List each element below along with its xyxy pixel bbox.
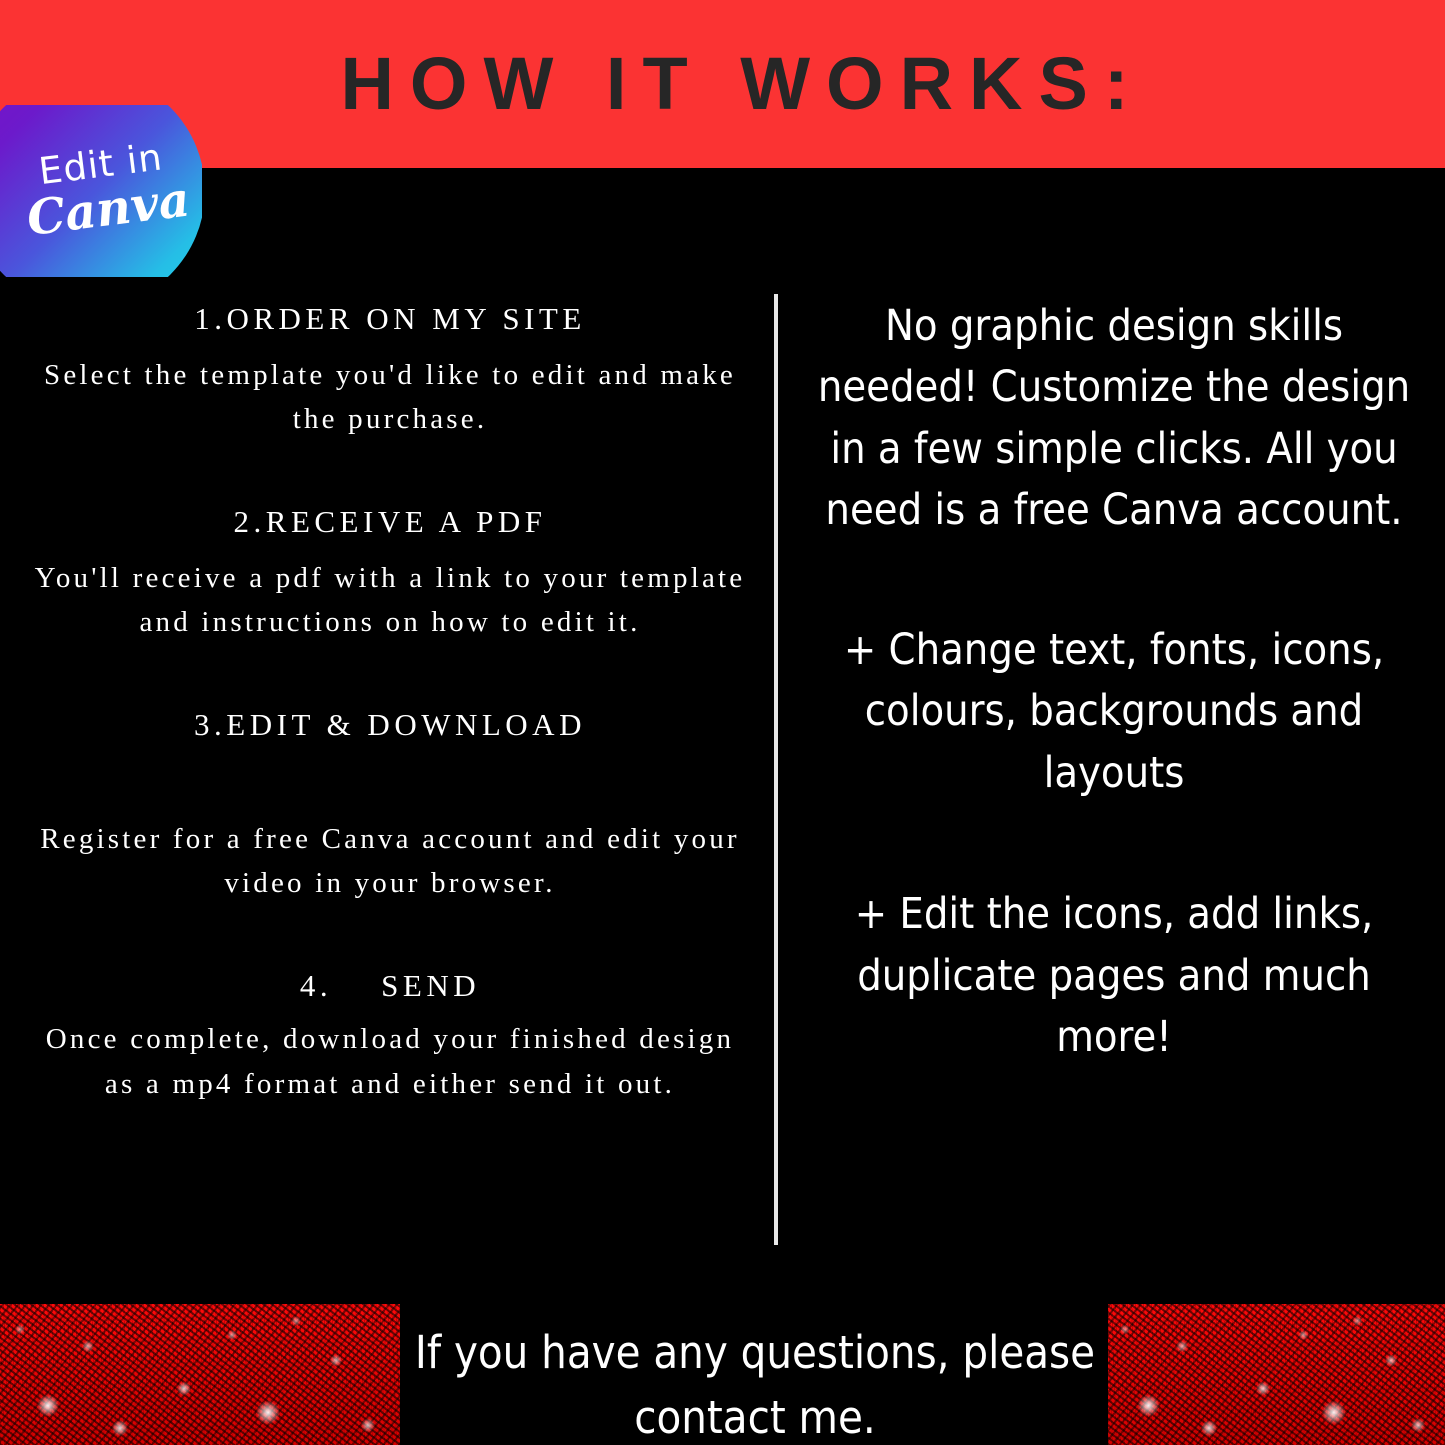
step-2-title: 2.RECEIVE A PDF bbox=[28, 503, 752, 542]
step-1-body: Select the template you'd like to edit a… bbox=[28, 353, 752, 441]
page-title: HOW IT WORKS: bbox=[0, 0, 1445, 168]
step-4-body: Once complete, download your finished de… bbox=[28, 1017, 752, 1105]
step-item-2: 2.RECEIVE A PDF You'll receive a pdf wit… bbox=[28, 503, 752, 644]
step-3-body: Register for a free Canva account and ed… bbox=[28, 817, 752, 905]
step-item-3: 3.EDIT & DOWNLOAD Register for a free Ca… bbox=[28, 706, 752, 905]
step-item-1: 1.ORDER ON MY SITE Select the template y… bbox=[28, 300, 752, 441]
step-3-title: 3.EDIT & DOWNLOAD bbox=[28, 706, 752, 745]
poster-canvas: HOW IT WORKS: Edit in Canva 1.ORDER ON M… bbox=[0, 0, 1445, 1445]
steps-column: 1.ORDER ON MY SITE Select the template y… bbox=[28, 300, 752, 1132]
contact-message: If you have any questions, please contac… bbox=[410, 1320, 1100, 1445]
benefit-block-intro: No graphic design skills needed! Customi… bbox=[800, 296, 1428, 542]
badge-text-group: Edit in Canva bbox=[0, 105, 202, 277]
glitter-strip-left bbox=[0, 1304, 400, 1445]
step-2-body: You'll receive a pdf with a link to your… bbox=[28, 556, 752, 644]
benefits-column: No graphic design skills needed! Customi… bbox=[800, 296, 1428, 1069]
glitter-strip-right bbox=[1108, 1304, 1445, 1445]
benefit-block-edit: + Edit the icons, add links, duplicate p… bbox=[800, 884, 1428, 1068]
benefit-block-customize: + Change text, fonts, icons, colours, ba… bbox=[800, 620, 1428, 804]
step-1-title: 1.ORDER ON MY SITE bbox=[28, 300, 752, 339]
column-divider bbox=[774, 294, 778, 1245]
edit-in-canva-badge: Edit in Canva bbox=[0, 105, 202, 277]
step-4-title: 4. SEND bbox=[28, 967, 752, 1006]
step-item-4: 4. SEND Once complete, download your fin… bbox=[28, 967, 752, 1106]
